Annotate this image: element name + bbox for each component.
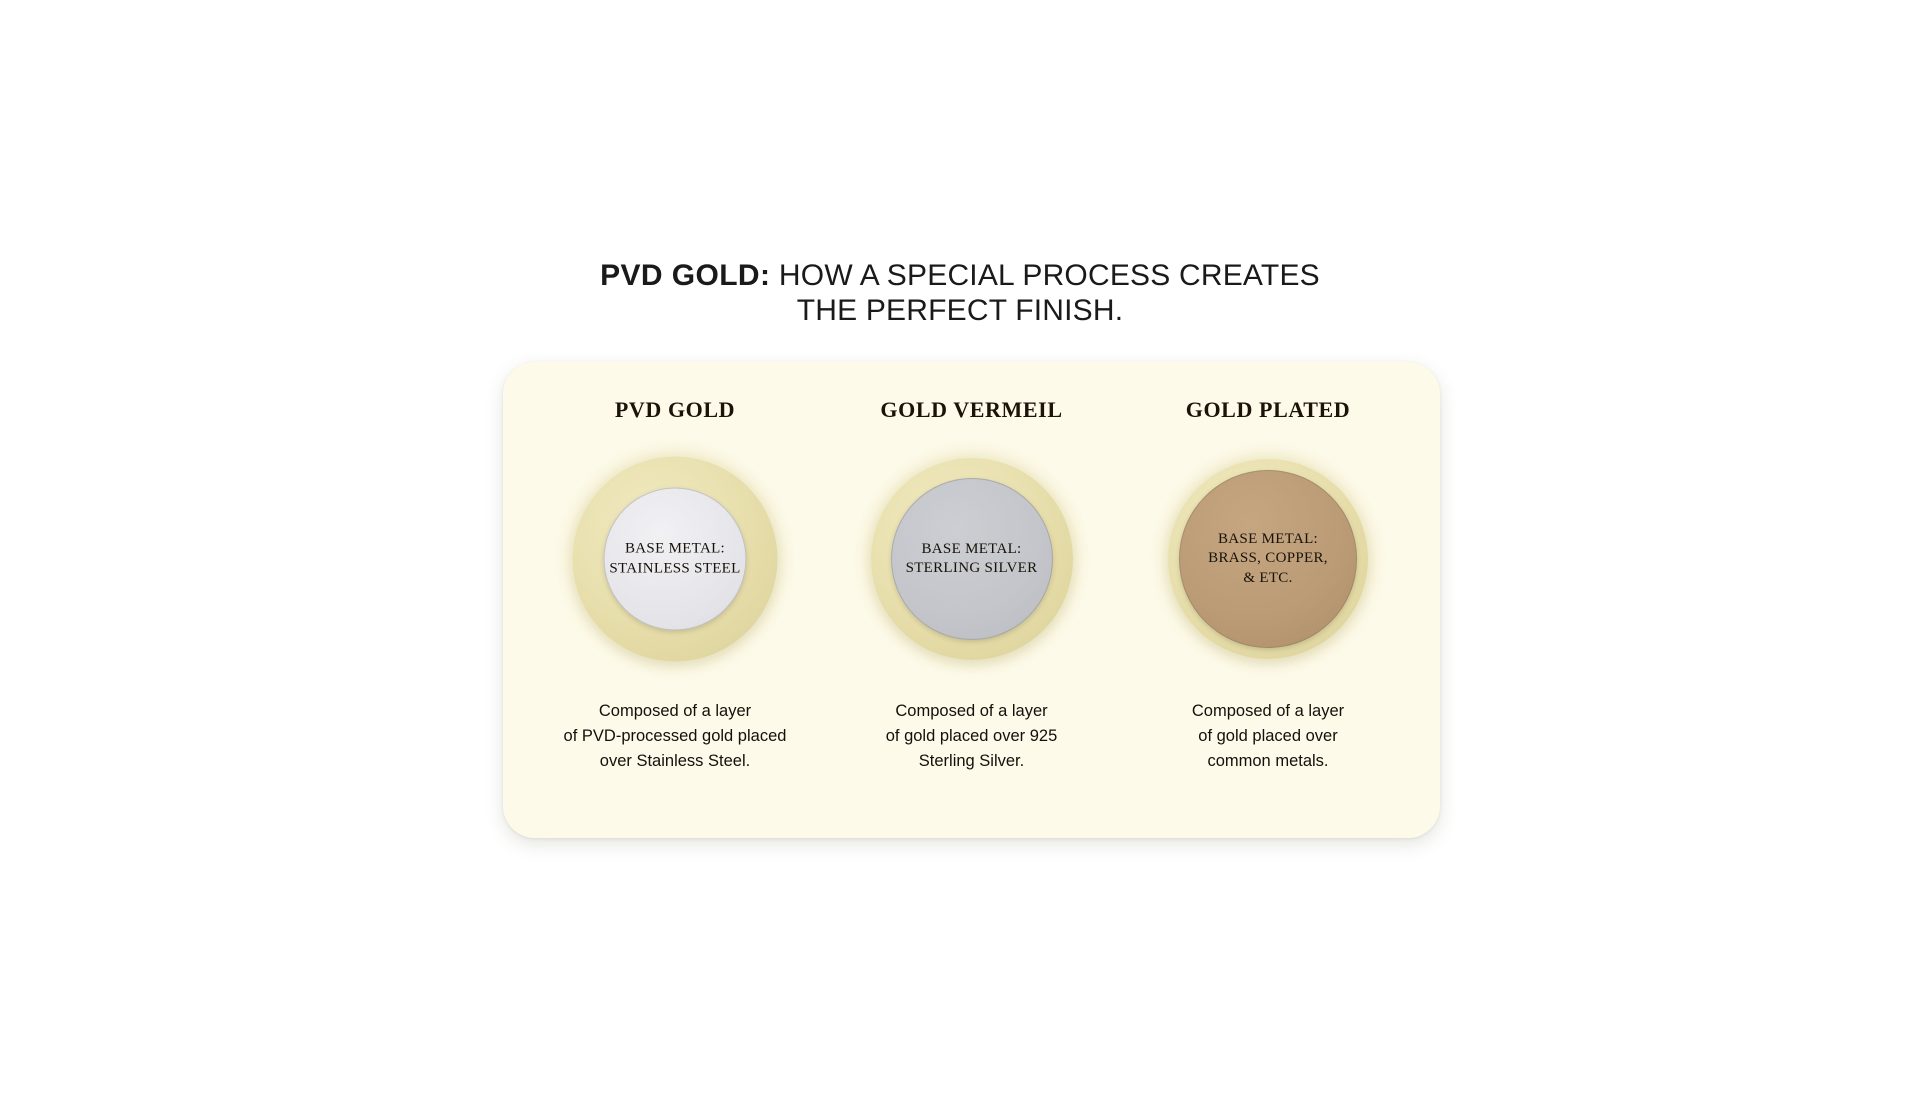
caption-line: of gold placed over xyxy=(1143,724,1393,749)
core-line: BASE METAL: xyxy=(921,540,1021,559)
title-line-1: PVD GOLD: HOW A SPECIAL PROCESS CREATES xyxy=(0,258,1920,293)
core-line: BRASS, COPPER, xyxy=(1208,549,1328,568)
column-gold-vermeil: GOLD VERMEIL BASE METAL: STERLING SILVER… xyxy=(824,362,1120,773)
caption-line: of gold placed over 925 xyxy=(847,724,1097,749)
page-title: PVD GOLD: HOW A SPECIAL PROCESS CREATES … xyxy=(0,258,1920,329)
diagram-circle-gold-plated: BASE METAL: BRASS, COPPER, & ETC. xyxy=(1143,445,1393,673)
core-line: BASE METAL: xyxy=(1218,530,1318,549)
title-line-2: THE PERFECT FINISH. xyxy=(0,293,1920,328)
diagram-circle-gold-vermeil: BASE METAL: STERLING SILVER xyxy=(847,445,1097,673)
column-header-pvd-gold: PVD GOLD xyxy=(615,397,735,423)
core-line: STERLING SILVER xyxy=(906,559,1038,578)
caption-line: over Stainless Steel. xyxy=(550,749,800,774)
base-metal-core-stainless-steel: BASE METAL: STAINLESS STEEL xyxy=(604,488,747,631)
diagram-circle-pvd-gold: BASE METAL: STAINLESS STEEL xyxy=(550,445,800,673)
column-caption-pvd-gold: Composed of a layer of PVD-processed gol… xyxy=(550,699,800,773)
title-remainder: HOW A SPECIAL PROCESS CREATES xyxy=(770,259,1319,292)
column-caption-gold-vermeil: Composed of a layer of gold placed over … xyxy=(847,699,1097,773)
caption-line: Composed of a layer xyxy=(847,699,1097,724)
column-gold-plated: GOLD PLATED BASE METAL: BRASS, COPPER, &… xyxy=(1120,362,1416,773)
base-metal-core-sterling-silver: BASE METAL: STERLING SILVER xyxy=(891,478,1053,640)
comparison-panel: PVD GOLD BASE METAL: STAINLESS STEEL Com… xyxy=(503,362,1440,838)
caption-line: of PVD-processed gold placed xyxy=(550,724,800,749)
caption-line: Sterling Silver. xyxy=(847,749,1097,774)
caption-line: Composed of a layer xyxy=(550,699,800,724)
comparison-columns: PVD GOLD BASE METAL: STAINLESS STEEL Com… xyxy=(503,362,1440,838)
column-caption-gold-plated: Composed of a layer of gold placed over … xyxy=(1143,699,1393,773)
column-header-gold-plated: GOLD PLATED xyxy=(1186,397,1351,423)
core-line: STAINLESS STEEL xyxy=(609,559,740,578)
base-metal-core-brass-copper: BASE METAL: BRASS, COPPER, & ETC. xyxy=(1179,470,1357,648)
column-header-gold-vermeil: GOLD VERMEIL xyxy=(880,397,1062,423)
core-line: & ETC. xyxy=(1243,569,1292,588)
column-pvd-gold: PVD GOLD BASE METAL: STAINLESS STEEL Com… xyxy=(527,362,823,773)
title-emphasis: PVD GOLD: xyxy=(600,259,770,292)
caption-line: common metals. xyxy=(1143,749,1393,774)
caption-line: Composed of a layer xyxy=(1143,699,1393,724)
core-line: BASE METAL: xyxy=(625,540,725,559)
